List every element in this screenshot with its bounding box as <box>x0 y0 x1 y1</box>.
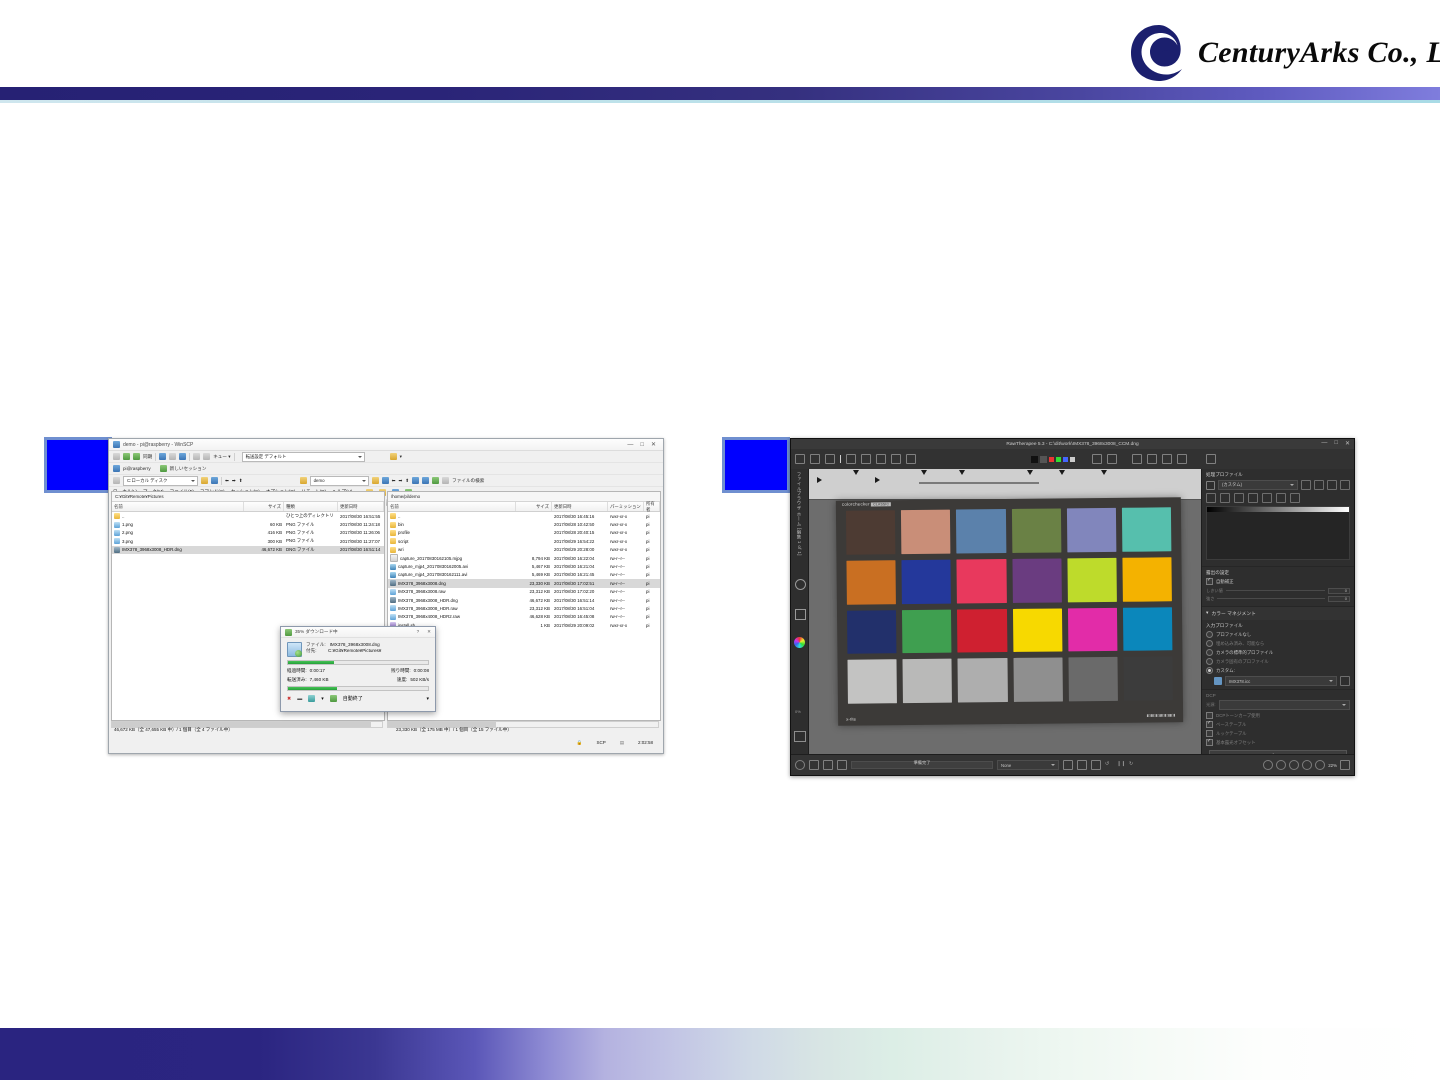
exposure-label: 露出の設定 <box>1206 570 1350 576</box>
transform-icon[interactable] <box>1262 493 1272 503</box>
remote-location-value: demo <box>314 478 325 483</box>
zoom-crop-icon[interactable] <box>1315 760 1325 770</box>
tool-tabs[interactable] <box>1206 493 1350 503</box>
zoom-in-icon[interactable] <box>1276 760 1286 770</box>
option-label: カメラ固有のプロファイル <box>1216 659 1269 665</box>
folder-icon <box>390 538 396 544</box>
remote-sync-icon[interactable] <box>432 477 439 484</box>
file-permissions: rw-r--r-- <box>608 606 644 611</box>
file-name: capture_20170830162105.mjpg <box>400 556 462 561</box>
checkbox-icon <box>1206 712 1213 719</box>
table-row[interactable]: ..2017/08/30 16:45:16rwxr-xr-xpi <box>388 512 660 520</box>
color-picker-icon[interactable] <box>891 454 901 464</box>
maximize-button[interactable]: □ <box>1334 440 1338 447</box>
colorchecker-patch <box>1122 557 1172 601</box>
done-label: 転送済み: <box>287 677 307 683</box>
transfer-settings-combo[interactable]: 転送設定 デフォルト <box>242 452 365 462</box>
remote-column-headers[interactable]: 名前 サイズ 更新日時 パーミッション 所有者 <box>388 502 660 512</box>
top-accent-line <box>0 100 1440 103</box>
remote-home-icon[interactable] <box>422 477 429 484</box>
minimize-button[interactable]: — <box>627 442 633 448</box>
load-profile-icon[interactable] <box>1301 480 1311 490</box>
table-row[interactable]: .. ひとつ上のディレクトリ 2017/08/30 16:51:55 <box>112 512 384 520</box>
file-type: PNG ファイル <box>284 522 338 528</box>
remote-forward-icon[interactable]: ➡ <box>398 478 402 484</box>
file-search-label[interactable]: ファイルの検索 <box>452 478 484 484</box>
file-size: 5,467 KB <box>516 564 552 569</box>
queue-icon[interactable] <box>203 453 210 460</box>
forward-icon[interactable]: ➡ <box>232 478 236 484</box>
clip-shadow-warning-icon[interactable] <box>1092 454 1102 464</box>
file-name: IMX378_3968x3008_HDR.raw <box>398 606 458 611</box>
close-button[interactable]: ✕ <box>1345 440 1350 447</box>
histogram-panel-icon[interactable] <box>794 731 806 742</box>
elapsed-time: 2:02:58 <box>638 740 653 745</box>
file-name: IMX378_3968x3008_HDR.dng <box>398 598 458 603</box>
file-date: 2017/08/30 16:22:04 <box>552 556 608 561</box>
custom-profile-value: IMX378.icc <box>1229 679 1250 684</box>
local-path-display[interactable]: C:¥Git¥Remote¥Pictures <box>112 492 384 502</box>
auto-levels-checkbox[interactable]: 自動補正 <box>1206 578 1350 585</box>
rotate-left-icon[interactable]: ↺ <box>1105 761 1113 769</box>
histogram-red-icon[interactable] <box>1049 457 1054 462</box>
radio-icon <box>1206 667 1213 674</box>
color-wheel-icon[interactable] <box>794 637 805 648</box>
spot-wb-icon[interactable] <box>876 454 886 464</box>
file-date: 2017/08/29 16:54:22 <box>552 539 608 544</box>
input-profile-option: 埋め込み済み、可能なら <box>1206 640 1350 647</box>
zoom-100-icon[interactable] <box>1302 760 1312 770</box>
navigator-icon[interactable] <box>1063 760 1073 770</box>
checkbox-icon <box>1206 739 1213 746</box>
winscp-session-tabs[interactable]: pi@raspberry 新しいセッション <box>109 463 663 475</box>
file-size: 8,794 KB <box>516 556 552 561</box>
colorchecker-patch <box>847 610 897 654</box>
file-name: capture_mjp4_20170830162111.avi <box>398 572 467 577</box>
flip-horizontal-icon[interactable] <box>1177 454 1187 464</box>
copy-profile-icon[interactable] <box>1327 480 1337 490</box>
folder-open-icon[interactable] <box>1340 676 1350 686</box>
dialog-titlebar[interactable]: 35% ダウンロード中 ? ✕ <box>281 627 435 638</box>
winscp-statusbar: 🔒 SCP ▤ 2:02:58 <box>111 737 659 748</box>
input-profile-options[interactable]: プロファイルなし埋め込み済み、可能ならカメラの標準的プロファイルカメラ固有のプロ… <box>1206 631 1350 674</box>
colorchecker-patch <box>958 658 1008 702</box>
column-permissions[interactable]: パーミッション <box>608 502 644 511</box>
dcp-illuminant-combo[interactable] <box>1219 700 1350 710</box>
file-name: script <box>398 539 409 544</box>
folder-icon <box>390 530 396 536</box>
rawtherapee-preview[interactable]: colorchecker CLASSIC x-rite ▮▯▮▮▯▮▯▮▮▯▮▯… <box>809 469 1201 755</box>
histogram-black-icon[interactable] <box>1031 456 1038 463</box>
histogram-green-icon[interactable] <box>1056 457 1061 462</box>
auto-close-label[interactable]: 自動終了 <box>343 695 363 702</box>
table-row[interactable]: wri2017/08/29 20:28:00rwxr-xr-xpi <box>388 546 660 554</box>
new-session-icon[interactable] <box>160 465 167 472</box>
histogram-gray-icon[interactable] <box>1040 456 1047 463</box>
remote-up-icon[interactable]: ⬆ <box>405 478 409 484</box>
option-label: DCPトーンカーブ使用 <box>1216 713 1260 719</box>
dcp-section[interactable]: DCP 光源: DCPトーンカーブ使用ベーステーブルルックテーブル基本露光オフセ… <box>1202 690 1354 755</box>
raw-icon[interactable] <box>1276 493 1286 503</box>
session-color-caret[interactable]: ▾ <box>400 454 402 460</box>
file-size: 1 KB <box>516 623 552 628</box>
remote-bookmark-icon[interactable] <box>382 477 389 484</box>
settings-caret[interactable]: ▾ <box>321 696 324 702</box>
column-owner[interactable]: 所有者 <box>644 502 660 511</box>
drive-icon[interactable] <box>113 477 120 484</box>
percent-label: 0% <box>795 709 801 714</box>
colorchecker-image[interactable]: colorchecker CLASSIC x-rite ▮▯▮▮▯▮▯▮▮▯▮▯… <box>836 497 1183 726</box>
auto-close-icon[interactable] <box>330 695 337 702</box>
elapsed-label: 経過時間: <box>287 668 307 674</box>
table-row[interactable]: bin2017/08/28 10:42:50rwxr-xr-xpi <box>388 520 660 528</box>
processing-profile-section[interactable]: 処理プロファイル (カスタム) <box>1202 469 1354 567</box>
lock-icon: 🔒 <box>577 740 583 746</box>
strip-marker <box>817 477 822 483</box>
file-search-icon[interactable] <box>442 477 449 484</box>
table-row[interactable]: capture_mjp4_20170830162111.avi5,469 KB2… <box>388 571 660 579</box>
strength-value[interactable]: 0 <box>1328 596 1350 602</box>
file-owner: pi <box>644 572 660 577</box>
sync-icon[interactable] <box>123 453 130 460</box>
file-permissions: rw-r--r-- <box>608 564 644 569</box>
pause-icon[interactable]: ❙❙ <box>1117 761 1125 769</box>
table-row[interactable]: capture_mjp4_20170830162005.avi5,467 KB2… <box>388 562 660 570</box>
centuryarks-c-logo-icon <box>1128 22 1190 84</box>
local-file-list[interactable]: .. ひとつ上のディレクトリ 2017/08/30 16:51:55 1.png… <box>112 512 384 554</box>
table-row[interactable]: IMX378_3968x3008_HDR.dng 46,672 KB DNG フ… <box>112 546 384 554</box>
remote-refresh-icon[interactable] <box>412 477 419 484</box>
download-file-icon <box>287 642 302 657</box>
colorchecker-patch <box>1068 607 1118 651</box>
file-size: 46,672 KB <box>244 547 284 552</box>
file-progress-bar <box>287 660 429 665</box>
softproof-icon[interactable] <box>837 760 847 770</box>
console-icon[interactable] <box>179 453 186 460</box>
wrench-icon[interactable] <box>795 609 806 620</box>
colorchecker-patch <box>1122 507 1172 551</box>
file-owner: pi <box>644 581 660 586</box>
straighten-icon[interactable] <box>861 454 871 464</box>
table-row[interactable]: capture_20170830162105.mjpg8,794 KB2017/… <box>388 554 660 562</box>
profile-combo[interactable]: (カスタム) <box>1218 480 1298 490</box>
strip-marker <box>1027 470 1033 475</box>
table-row[interactable]: 2.png 416 KB PNG ファイル 2017/08/30 11:26:0… <box>112 529 384 537</box>
zoom-controls[interactable]: 22% <box>1263 760 1350 770</box>
mode-combo[interactable]: None <box>997 760 1059 770</box>
file-owner: pi <box>644 606 660 611</box>
more-caret[interactable]: ▾ <box>426 696 429 702</box>
navigator-strip[interactable] <box>809 469 1201 500</box>
minimize-icon[interactable]: ▬ <box>297 696 302 702</box>
toolbar-separator <box>189 453 190 461</box>
rotate-left-icon[interactable] <box>1132 454 1142 464</box>
exposure-icon[interactable] <box>1206 493 1216 503</box>
input-profile-option[interactable]: カメラの標準的プロファイル <box>1206 649 1350 656</box>
file-owner: pi <box>644 598 660 603</box>
file-name: IMX378_3968x3008_HDR.dng <box>122 547 182 552</box>
column-date[interactable]: 更新日時 <box>338 502 384 511</box>
file-permissions: rwxr-xr-x <box>608 547 644 552</box>
speed-value: 502 KB/s <box>410 677 429 683</box>
file-date: 2017/08/30 16:51:55 <box>338 514 384 519</box>
file-name: 2.png <box>122 530 133 535</box>
option-label: ルックテーブル <box>1216 731 1246 737</box>
file-name: IMX378_3968x3008.dng <box>398 581 446 586</box>
strength-slider[interactable]: 強さ 0 <box>1206 595 1350 602</box>
left-tabs-label[interactable]: ファイルブラウザ ホーム [編集 1 of 1] <box>796 472 802 556</box>
file-name: .. <box>398 514 400 519</box>
file-owner: pi <box>644 564 660 569</box>
file-owner: pi <box>644 514 660 519</box>
raw-file-icon <box>390 605 396 611</box>
paste-profile-icon[interactable] <box>1340 480 1350 490</box>
custom-profile-field[interactable]: IMX378.icc <box>1225 676 1337 686</box>
save-profile-icon[interactable] <box>1314 480 1324 490</box>
remote-location-combo[interactable]: demo <box>310 476 369 486</box>
colorchecker-brand-label: colorchecker CLASSIC <box>842 501 891 507</box>
dcp-options[interactable]: DCPトーンカーブ使用ベーステーブルルックテーブル基本露光オフセット <box>1206 712 1350 746</box>
column-date[interactable]: 更新日時 <box>552 502 608 511</box>
remote-path-display[interactable]: /home/pi/demo <box>388 492 660 502</box>
winscp-titlebar[interactable]: demo - pi@raspberry - WinSCP — □ ✕ <box>109 439 663 451</box>
toolbar-separator <box>840 455 841 463</box>
file-permissions: rw-r--r-- <box>608 598 644 603</box>
rawtherapee-right-panel[interactable]: 処理プロファイル (カスタム) <box>1201 469 1354 755</box>
clip-value[interactable]: 0 <box>1328 588 1350 594</box>
column-name[interactable]: 名前 <box>112 502 244 511</box>
rawtherapee-window-controls[interactable]: — □ ✕ <box>1321 440 1350 447</box>
local-drive-value: C:ローカル ディスク <box>127 478 167 484</box>
file-permissions: rw-r--r-- <box>608 572 644 577</box>
rawtherapee-left-tabs[interactable]: ファイルブラウザ ホーム [編集 1 of 1] 0% <box>791 469 809 755</box>
histogram-luma-icon[interactable] <box>1070 457 1075 462</box>
colorchecker-patch <box>1067 558 1117 602</box>
option-label: 基本露光オフセット <box>1216 740 1256 746</box>
winscp-window-controls[interactable]: — □ ✕ <box>627 441 659 448</box>
option-label: 埋め込み済み、可能なら <box>1216 641 1264 647</box>
file-date: 2017/08/30 11:24:18 <box>338 522 384 527</box>
file-size: 5,469 KB <box>516 572 552 577</box>
queue-label[interactable]: キュー ▾ <box>213 454 230 460</box>
colorchecker-patch <box>956 509 1006 553</box>
open-folder-icon[interactable] <box>201 477 208 484</box>
fullscreen-icon[interactable] <box>1340 760 1350 770</box>
zoom-out-icon[interactable] <box>1263 760 1273 770</box>
table-row[interactable]: IMX378_3968x3008.dng23,330 KB2017/08/30 … <box>388 579 660 587</box>
sync-browse-icon[interactable] <box>133 453 140 460</box>
session-color-icon[interactable] <box>390 453 397 460</box>
back-icon[interactable]: ⬅ <box>225 478 229 484</box>
file-size: 300 KB <box>244 539 284 544</box>
company-logo: CenturyArks Co., Ltd. <box>1128 22 1440 84</box>
perspective-icon[interactable] <box>906 454 916 464</box>
file-name: wri <box>398 547 404 552</box>
file-name: .. <box>122 514 124 519</box>
file-owner: pi <box>644 589 660 594</box>
bookmark-icon[interactable] <box>211 477 218 484</box>
file-size: 60 KB <box>244 522 284 527</box>
compare-right-icon[interactable] <box>1091 760 1101 770</box>
close-button[interactable]: ✕ <box>651 441 656 448</box>
rawtherapee-title-text: RawTherapee 5.3 - C:\dit\work\IMX378_396… <box>1006 442 1138 447</box>
table-row[interactable]: 1.png 60 KB PNG ファイル 2017/08/30 11:24:18 <box>112 520 384 528</box>
colorchecker-patch <box>846 510 896 554</box>
compare-left-icon[interactable] <box>1077 760 1087 770</box>
remote-status-text: 23,330 KB（全 175 MB 中）/ 1 個目（全 15 ファイル中） <box>393 727 659 736</box>
folder-icon <box>390 522 396 528</box>
toolbar-separator <box>155 453 156 461</box>
table-row[interactable]: profile2017/08/28 20:40:15rwxr-xr-xpi <box>388 529 660 537</box>
strip-marker <box>1101 470 1107 475</box>
file-date: 2017/08/29 20:09:02 <box>552 623 608 628</box>
rawtherapee-statusbar[interactable]: 準備完了 None ↺ ❙❙ ↻ 22% <box>791 754 1354 775</box>
download-progress-dialog[interactable]: 35% ダウンロード中 ? ✕ ファイル: IMX378_3968x3008.d… <box>280 626 436 712</box>
strength-label: 強さ <box>1206 596 1214 602</box>
file-date: 2017/08/30 16:21:04 <box>552 564 608 569</box>
lock-icon[interactable] <box>809 760 819 770</box>
before-after-icon[interactable] <box>825 454 835 464</box>
toolbar-separator <box>221 477 222 485</box>
remote-file-list[interactable]: ..2017/08/30 16:45:16rwxr-xr-xpibin2017/… <box>388 512 660 629</box>
session-tab-icon[interactable] <box>113 465 120 472</box>
rotate-right-icon[interactable]: ↻ <box>1129 761 1137 769</box>
column-type[interactable]: 種類 <box>284 502 338 511</box>
input-profile-option[interactable]: プロファイルなし <box>1206 631 1350 638</box>
color-icon[interactable] <box>1234 493 1244 503</box>
file-permissions: rw-r--r-- <box>608 556 644 561</box>
dest-value: C:¥Git¥Remote¥Pictures¥ <box>328 648 381 654</box>
detach-panel-icon[interactable] <box>1206 454 1216 464</box>
column-size[interactable]: サイズ <box>516 502 552 511</box>
remote-back-icon[interactable]: ⬅ <box>392 478 396 484</box>
checkbox-icon <box>1206 721 1213 728</box>
colorchecker-patch <box>1123 657 1173 701</box>
dcp-label: DCP <box>1206 693 1350 698</box>
clip-label: しきい値 <box>1206 588 1223 594</box>
file-owner: pi <box>644 614 660 619</box>
colorchecker-patch <box>902 609 952 653</box>
profile-list-icon[interactable] <box>1206 481 1215 490</box>
file-owner: pi <box>644 547 660 552</box>
rawtherapee-toolbar[interactable] <box>791 449 1354 470</box>
before-after-icon[interactable] <box>795 760 805 770</box>
histogram-blue-icon[interactable] <box>1063 457 1068 462</box>
rotate-right-icon[interactable] <box>1147 454 1157 464</box>
flip-vertical-icon[interactable] <box>1162 454 1172 464</box>
clip-slider[interactable]: しきい値 0 <box>1206 587 1350 594</box>
remote-open-folder-icon[interactable] <box>372 477 379 484</box>
indicate-clipped-icon[interactable] <box>823 760 833 770</box>
local-column-headers[interactable]: 名前 サイズ 種類 更新日時 <box>112 502 384 512</box>
close-button[interactable]: ✕ <box>427 629 431 635</box>
winscp-title-text: demo - pi@raspberry - WinSCP <box>123 442 193 448</box>
file-date: 2017/08/30 16:51:14 <box>552 598 608 603</box>
table-row[interactable]: IMX378_3968x3008_HDR.raw23,312 KB2017/08… <box>388 604 660 612</box>
new-session-grid-icon[interactable] <box>113 453 120 460</box>
colorchecker-patch <box>901 510 951 554</box>
table-row[interactable]: IMX378_3968x4008_HDR2.raw46,628 KB2017/0… <box>388 613 660 621</box>
raw-file-icon <box>390 614 396 620</box>
zoom-fit-icon[interactable] <box>1289 760 1299 770</box>
remaining-label: 残り時間: <box>391 668 411 674</box>
progress-label: 準備完了 <box>914 760 931 766</box>
session-tab-label[interactable]: pi@raspberry <box>123 466 151 471</box>
colorchecker-patch <box>903 659 953 703</box>
new-session-label[interactable]: 新しいセッション <box>170 466 207 472</box>
file-permissions: rwxr-xr-x <box>608 522 644 527</box>
dcp-option: ベーステーブル <box>1206 721 1350 728</box>
column-size[interactable]: サイズ <box>244 502 284 511</box>
info-icon[interactable] <box>810 454 820 464</box>
expand-caret-icon[interactable]: ▾ <box>1206 611 1208 616</box>
file-date: 2017/08/30 17:02:20 <box>552 589 608 594</box>
column-name[interactable]: 名前 <box>388 502 516 511</box>
colorchecker-patch <box>1068 657 1118 701</box>
maximize-button[interactable]: □ <box>640 442 644 448</box>
sync-label[interactable]: 同期 <box>143 454 152 460</box>
strip-marker <box>875 477 880 483</box>
total-progress-bar <box>287 686 429 691</box>
file-date: 2017/08/29 20:28:00 <box>552 547 608 552</box>
refresh-icon[interactable] <box>159 453 166 460</box>
input-profile-section[interactable]: 入力プロファイル プロファイルなし埋め込み済み、可能ならカメラの標準的プロファイ… <box>1202 620 1354 690</box>
file-type: PNG ファイル <box>284 530 338 536</box>
winscp-local-path-toolbar[interactable]: C:ローカル ディスク ⬅ ➡ ⬆ demo ⬅ ➡ ⬆ ファイルの検索 <box>109 475 663 487</box>
file-size: 46,672 KB <box>516 598 552 603</box>
input-profile-option[interactable]: カスタム: <box>1206 667 1350 674</box>
settings-icon[interactable] <box>308 695 315 702</box>
local-drive-combo[interactable]: C:ローカル ディスク <box>123 476 198 486</box>
remote-folder-icon[interactable] <box>300 477 307 484</box>
winscp-toolbar-main[interactable]: 同期 キュー ▾ 転送設定 デフォルト ▾ <box>109 451 663 463</box>
cancel-icon[interactable]: ✖ <box>287 696 291 702</box>
preferences-icon[interactable] <box>193 453 200 460</box>
file-owner: pi <box>644 623 660 628</box>
table-row[interactable]: IMX378_3968x3008_HDR.dng46,672 KB2017/08… <box>388 596 660 604</box>
color-management-title: カラー マネジメント <box>1211 610 1256 617</box>
file-type: ひとつ上のディレクトリ <box>284 513 338 519</box>
color-management-header[interactable]: ▾ カラー マネジメント <box>1202 607 1354 620</box>
exposure-section[interactable]: 露出の設定 自動補正 しきい値 0 強さ 0 <box>1202 567 1354 607</box>
table-row[interactable]: IMX378_3968x3008.raw23,312 KB2017/08/30 … <box>388 588 660 596</box>
avi-file-icon <box>390 564 396 570</box>
png-file-icon <box>114 522 120 528</box>
rawtherapee-titlebar[interactable]: RawTherapee 5.3 - C:\dit\work\IMX378_396… <box>791 439 1354 449</box>
detail-icon[interactable] <box>1220 493 1230 503</box>
file-date: 2017/08/28 20:40:15 <box>552 530 608 535</box>
table-row[interactable]: 3.png 300 KB PNG ファイル 2017/08/30 11:27:0… <box>112 537 384 545</box>
find-icon[interactable] <box>169 453 176 460</box>
table-row[interactable]: script2017/08/29 16:54:22rwxr-xr-xpi <box>388 537 660 545</box>
file-permissions: rwxr-xr-x <box>608 623 644 628</box>
minimize-button[interactable]: — <box>1321 440 1327 447</box>
file-name: 1.png <box>122 522 133 527</box>
jpg-file-icon <box>390 554 398 562</box>
magnifier-icon[interactable] <box>795 579 806 590</box>
network-icon: ▤ <box>620 740 624 746</box>
folder-up-icon <box>390 513 396 519</box>
help-button[interactable]: ? <box>417 629 420 635</box>
hand-tool-icon[interactable] <box>795 454 805 464</box>
rawtherapee-window[interactable]: RawTherapee 5.3 - C:\dit\work\IMX378_396… <box>790 438 1355 776</box>
winscp-selection-status: 46,672 KB（全 47,655 KB 中）/ 1 個目（全 4 ファイル中… <box>111 727 659 736</box>
crop-icon[interactable] <box>846 454 856 464</box>
up-icon[interactable]: ⬆ <box>239 478 243 484</box>
advanced-icon[interactable] <box>1248 493 1258 503</box>
clip-highlight-warning-icon[interactable] <box>1107 454 1117 464</box>
metadata-icon[interactable] <box>1290 493 1300 503</box>
